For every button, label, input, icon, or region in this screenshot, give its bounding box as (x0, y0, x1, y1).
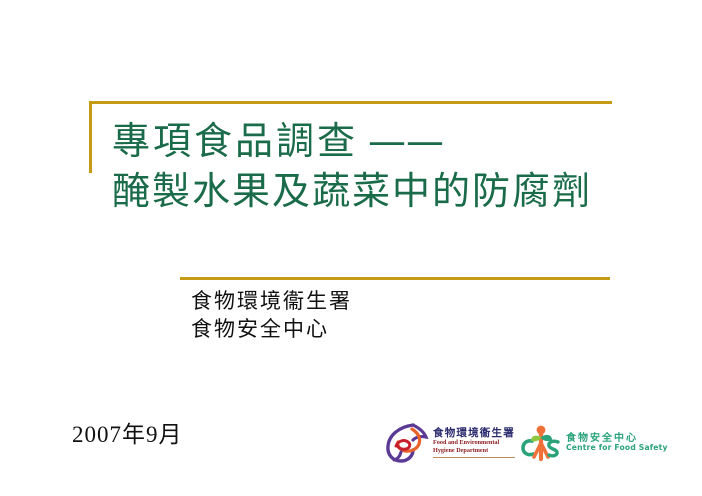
slide-date: 2007年9月 (72, 415, 183, 449)
slide-title: 專項食品調查—— 醃製水果及蔬菜中的防腐劑 (112, 116, 652, 217)
logo-strip: 食物環境衞生署 Food and Environmental Hygiene D… (383, 418, 663, 474)
subtitle-line-centre: 食物安全中心 (191, 315, 611, 343)
fehd-logo-english-line-1: Food and Environmental (433, 439, 515, 447)
title-left-rule (89, 101, 92, 173)
fehd-fe-monogram-icon (383, 422, 429, 464)
slide-subtitle: 食物環境衞生署 食物安全中心 (191, 287, 611, 343)
fehd-logo-chinese: 食物環境衞生署 (433, 428, 515, 439)
cfs-logo-text: 食物安全中心 Centre for Food Safety (566, 434, 668, 452)
subtitle-line-department: 食物環境衞生署 (191, 287, 611, 315)
fehd-logo-text: 食物環境衞生署 Food and Environmental Hygiene D… (433, 428, 515, 458)
title-line-1-text: 專項食品調查 (112, 121, 358, 163)
presentation-slide: 專項食品調查—— 醃製水果及蔬菜中的防腐劑 食物環境衞生署 食物安全中心 200… (0, 0, 702, 496)
title-line-2: 醃製水果及蔬菜中的防腐劑 (112, 167, 652, 217)
title-em-dash: —— (368, 119, 444, 163)
fehd-logo-underline (433, 457, 515, 458)
cfs-logo: 食物安全中心 Centre for Food Safety (520, 423, 668, 463)
title-top-rule (89, 101, 612, 104)
subtitle-divider-rule (180, 277, 610, 280)
cfs-sprout-monogram-icon (520, 423, 562, 463)
cfs-logo-english: Centre for Food Safety (566, 444, 668, 452)
fehd-logo-english-line-2: Hygiene Department (433, 447, 515, 455)
fehd-logo: 食物環境衞生署 Food and Environmental Hygiene D… (383, 422, 515, 464)
title-line-1: 專項食品調查—— (112, 116, 652, 167)
